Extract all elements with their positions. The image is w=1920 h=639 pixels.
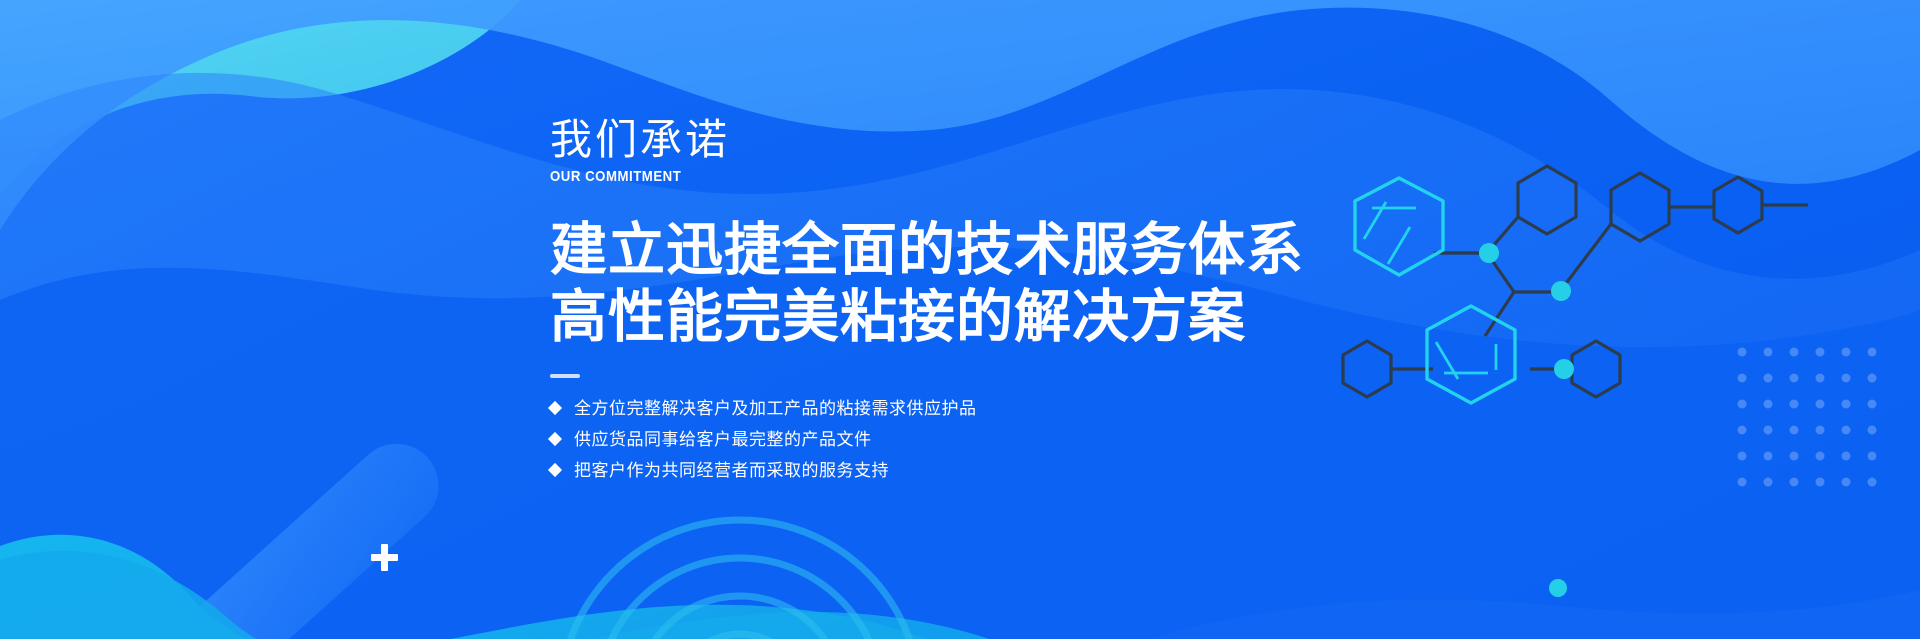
- list-item-label: 供应货品同事给客户最完整的产品文件: [574, 431, 872, 448]
- list-item: 供应货品同事给客户最完整的产品文件: [550, 431, 1350, 448]
- list-item-label: 把客户作为共同经营者而采取的服务支持: [574, 462, 889, 479]
- node-dot-2: [1551, 281, 1571, 301]
- hexagon-dark-lower-left: [1343, 341, 1391, 397]
- headline-line-2: 高性能完美粘接的解决方案: [550, 284, 1350, 351]
- diamond-bullet-icon: [548, 432, 562, 446]
- hexagon-cyan-lower: [1427, 306, 1515, 403]
- eyebrow-subtitle-en: OUR COMMITMENT: [550, 168, 1254, 185]
- hexagon-dark-top: [1518, 166, 1576, 234]
- list-item: 把客户作为共同经营者而采取的服务支持: [550, 462, 1350, 479]
- diamond-bullet-icon: [548, 401, 562, 415]
- diamond-bullet-icon: [548, 463, 562, 477]
- node-dot-3: [1554, 359, 1574, 379]
- headline-line-1: 建立迅捷全面的技术服务体系: [550, 217, 1350, 284]
- bond-center-4: [1485, 292, 1514, 336]
- hexagon-cyan-upper: [1355, 178, 1443, 275]
- page-title: 建立迅捷全面的技术服务体系 高性能完美粘接的解决方案: [550, 217, 1350, 352]
- molecule-nodes: [1479, 243, 1574, 597]
- hexagon-dark-right-1: [1611, 173, 1669, 241]
- list-item: 全方位完整解决客户及加工产品的粘接需求供应护品: [550, 400, 1350, 417]
- promo-banner: 我们承诺 OUR COMMITMENT 建立迅捷全面的技术服务体系 高性能完美粘…: [0, 0, 1920, 639]
- banner-content: 我们承诺 OUR COMMITMENT 建立迅捷全面的技术服务体系 高性能完美粘…: [550, 118, 1350, 493]
- list-item-label: 全方位完整解决客户及加工产品的粘接需求供应护品: [574, 400, 977, 417]
- commitment-list: 全方位完整解决客户及加工产品的粘接需求供应护品 供应货品同事给客户最完整的产品文…: [550, 400, 1350, 479]
- title-divider: [550, 374, 580, 378]
- node-dot-1: [1479, 243, 1499, 263]
- double-bond-lines-lower: [1436, 342, 1496, 379]
- hexagon-dark-lower-right: [1572, 341, 1620, 397]
- eyebrow-title-cn: 我们承诺: [550, 118, 1350, 162]
- hexagon-dark-right-2: [1714, 177, 1762, 233]
- node-dot-4: [1549, 579, 1567, 597]
- bond-diagonal: [1561, 224, 1611, 290]
- double-bond-lines-upper: [1364, 202, 1416, 264]
